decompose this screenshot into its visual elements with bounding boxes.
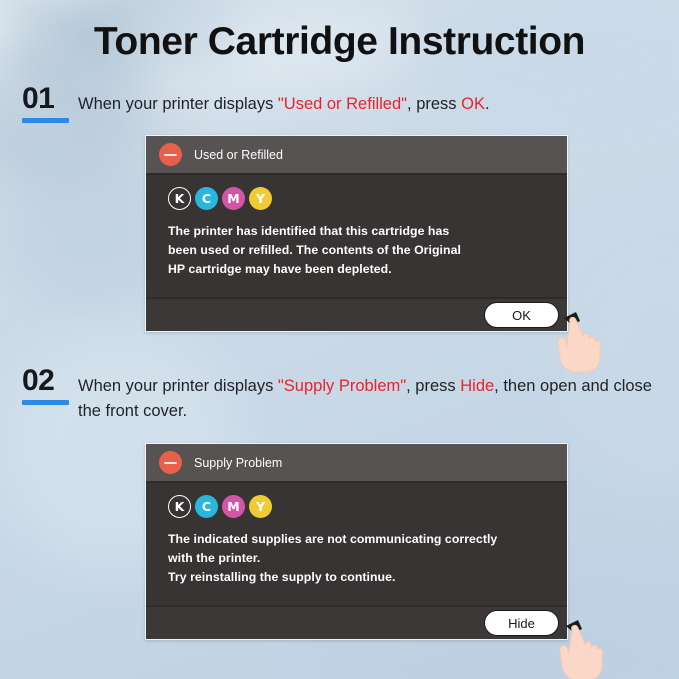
toner-indicator-row: K C M Y: [168, 187, 567, 210]
step-01: 01 When your printer displays "Used or R…: [22, 84, 663, 123]
dialog-message-line: been used or refilled. The contents of t…: [168, 241, 567, 260]
minus-circle-icon: [159, 451, 182, 474]
step-text-action: Hide: [460, 377, 494, 395]
toner-indicator-row: K C M Y: [168, 495, 567, 518]
dialog-header: Used or Refilled: [146, 136, 567, 175]
step-text-quoted-message: "Supply Problem": [278, 377, 406, 395]
dialog-body: K C M Y The indicated supplies are not c…: [146, 483, 567, 605]
cyan-toner-icon: C: [195, 187, 218, 210]
printer-dialog-used-or-refilled: Used or Refilled K C M Y The printer has…: [145, 135, 568, 332]
dialog-message: The indicated supplies are not communica…: [168, 530, 567, 587]
dialog-footer: OK: [146, 297, 567, 331]
dialog-message-line: Try reinstalling the supply to continue.: [168, 568, 567, 587]
step-text-action: OK: [461, 95, 485, 113]
ok-button[interactable]: OK: [484, 302, 559, 328]
cyan-toner-icon: C: [195, 495, 218, 518]
step-02-text: When your printer displays "Supply Probl…: [78, 366, 663, 424]
dialog-message-line: The printer has identified that this car…: [168, 222, 567, 241]
magenta-toner-icon: M: [222, 495, 245, 518]
step-number: 02: [22, 366, 78, 396]
minus-circle-icon: [159, 143, 182, 166]
step-01-number-block: 01: [22, 84, 78, 123]
dialog-title: Used or Refilled: [194, 148, 283, 162]
step-text-middle: , press: [406, 377, 460, 395]
black-toner-icon: K: [168, 495, 191, 518]
step-underline-rule: [22, 400, 69, 405]
step-number: 01: [22, 84, 78, 114]
hide-button[interactable]: Hide: [484, 610, 559, 636]
yellow-toner-icon: Y: [249, 495, 272, 518]
step-text-lead: When your printer displays: [78, 377, 278, 395]
step-02-number-block: 02: [22, 366, 78, 405]
yellow-toner-icon: Y: [249, 187, 272, 210]
step-text-tail: .: [485, 95, 490, 113]
page-title: Toner Cartridge Instruction: [0, 20, 679, 64]
dialog-body: K C M Y The printer has identified that …: [146, 175, 567, 297]
step-underline-rule: [22, 118, 69, 123]
step-text-middle: , press: [407, 95, 461, 113]
step-01-text: When your printer displays "Used or Refi…: [78, 84, 490, 117]
dialog-message-line: HP cartridge may have been depleted.: [168, 260, 567, 279]
dialog-message-line: The indicated supplies are not communica…: [168, 530, 567, 549]
dialog-header: Supply Problem: [146, 444, 567, 483]
step-text-lead: When your printer displays: [78, 95, 278, 113]
dialog-message: The printer has identified that this car…: [168, 222, 567, 279]
step-text-quoted-message: "Used or Refilled": [278, 95, 407, 113]
printer-dialog-supply-problem: Supply Problem K C M Y The indicated sup…: [145, 443, 568, 640]
step-02: 02 When your printer displays "Supply Pr…: [22, 366, 663, 424]
black-toner-icon: K: [168, 187, 191, 210]
dialog-message-line: with the printer.: [168, 549, 567, 568]
dialog-footer: Hide: [146, 605, 567, 639]
magenta-toner-icon: M: [222, 187, 245, 210]
dialog-title: Supply Problem: [194, 456, 282, 470]
